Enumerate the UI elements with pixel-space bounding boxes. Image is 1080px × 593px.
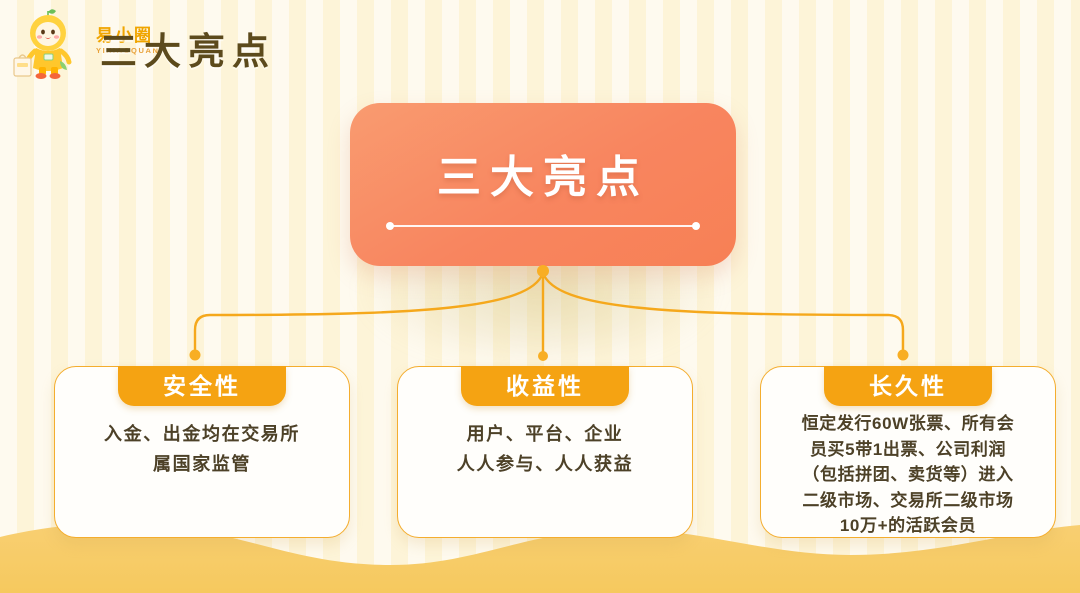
feature-card-longevity[interactable]: 长久性 恒定发行60W张票、所有会 员买5带1出票、公司利润 （包括拼团、卖货等… <box>760 366 1056 538</box>
divider-dot-right <box>692 222 700 230</box>
feature-card-profitability[interactable]: 收益性 用户、平台、企业 人人参与、人人获益 <box>397 366 693 538</box>
connector-origin-dot <box>537 265 549 277</box>
card-line: 二级市场、交易所二级市场 <box>773 488 1043 514</box>
hero-title: 三大亮点 <box>350 141 736 205</box>
connector-dot-center <box>538 351 548 361</box>
divider-line <box>393 225 693 227</box>
card-line: 恒定发行60W张票、所有会 <box>773 411 1043 437</box>
card-line: 员买5带1出票、公司利润 <box>773 437 1043 463</box>
feature-cards-row: 安全性 入金、出金均在交易所 属国家监管 收益性 用户、平台、企业 人人参与、人… <box>0 366 1080 546</box>
connector-lines <box>0 255 1080 375</box>
card-line: （包括拼团、卖货等）进入 <box>773 462 1043 488</box>
card-badge: 长久性 <box>824 366 992 406</box>
feature-card-security[interactable]: 安全性 入金、出金均在交易所 属国家监管 <box>54 366 350 538</box>
card-badge: 收益性 <box>461 366 629 406</box>
card-body-text: 用户、平台、企业 人人参与、人人获益 <box>410 419 680 479</box>
page-title: 三大亮点 <box>100 21 276 75</box>
hero-divider <box>386 222 700 230</box>
card-line: 10万+的活跃会员 <box>773 513 1043 539</box>
card-line: 用户、平台、企业 <box>410 419 680 449</box>
card-badge: 安全性 <box>118 366 286 406</box>
card-line: 入金、出金均在交易所 <box>67 419 337 449</box>
connector-dot-right <box>898 350 909 361</box>
brand-logo <box>8 6 100 84</box>
connector-dot-left <box>190 350 201 361</box>
mascot-character-icon <box>8 6 100 84</box>
slide-canvas: 易小圈 YIXIAOQUAN 三大亮点 三大亮点 安全性 <box>0 0 1080 593</box>
card-line: 人人参与、人人获益 <box>410 449 680 479</box>
card-body-text: 恒定发行60W张票、所有会 员买5带1出票、公司利润 （包括拼团、卖货等）进入 … <box>773 411 1043 539</box>
hero-card: 三大亮点 <box>350 103 736 266</box>
slide-header: 易小圈 YIXIAOQUAN 三大亮点 <box>0 0 1080 90</box>
card-body-text: 入金、出金均在交易所 属国家监管 <box>67 419 337 479</box>
card-line: 属国家监管 <box>67 449 337 479</box>
